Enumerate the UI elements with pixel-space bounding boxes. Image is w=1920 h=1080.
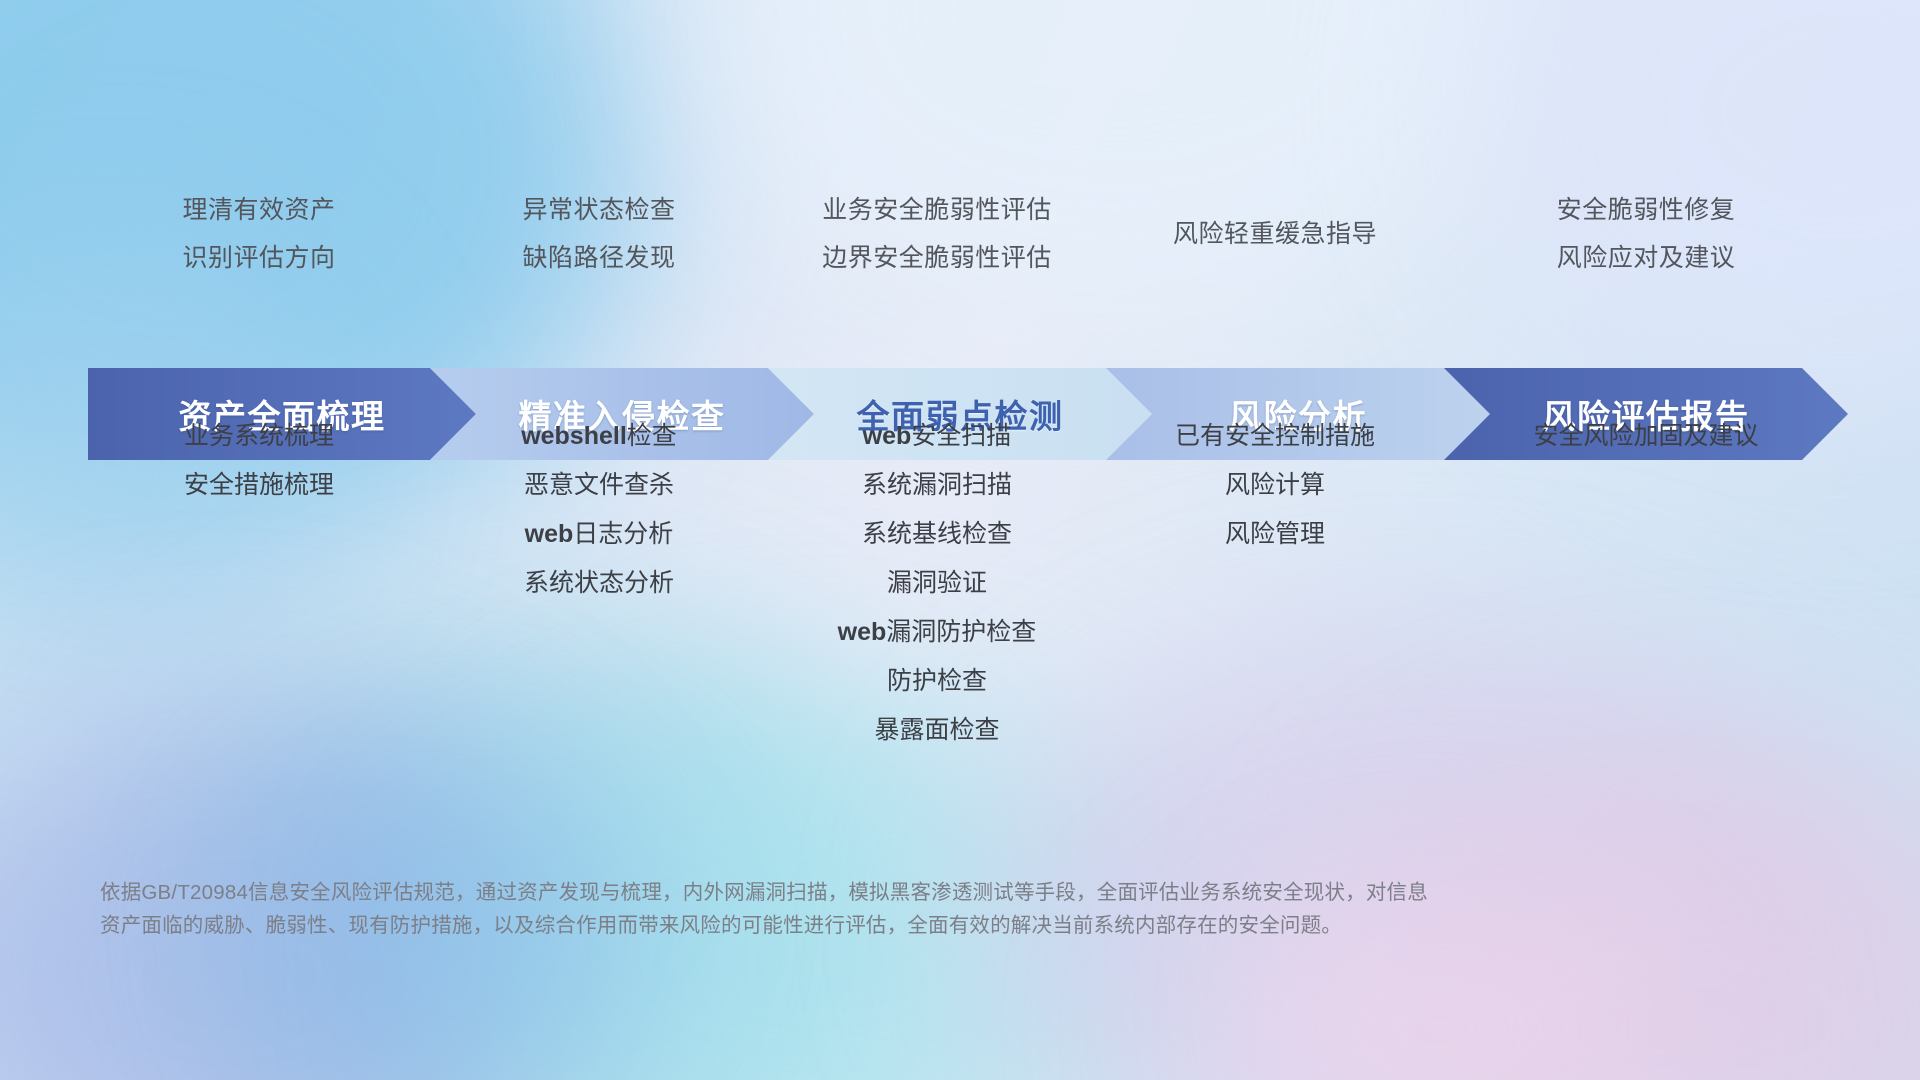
output-item: 暴露面检查 — [768, 706, 1106, 755]
output-item: 系统漏洞扫描 — [768, 461, 1106, 510]
input-item: 异常状态检查 — [430, 186, 768, 234]
stage-inputs-3: 业务安全脆弱性评估边界安全脆弱性评估 — [768, 186, 1106, 282]
stage-outputs-5: 安全风险加固及建议 — [1444, 412, 1848, 461]
stage-inputs-1: 理清有效资产识别评估方向 — [88, 186, 430, 282]
input-item: 理清有效资产 — [88, 186, 430, 234]
input-item: 缺陷路径发现 — [430, 234, 768, 282]
output-item: web日志分析 — [430, 510, 768, 559]
output-item: 安全措施梳理 — [88, 461, 430, 510]
output-item: webshell检查 — [430, 412, 768, 461]
stage-outputs-2: webshell检查恶意文件查杀web日志分析系统状态分析 — [430, 412, 768, 608]
stage-inputs-5: 安全脆弱性修复风险应对及建议 — [1444, 186, 1848, 282]
output-item: 系统基线检查 — [768, 510, 1106, 559]
output-item: 风险管理 — [1106, 510, 1444, 559]
stage-inputs-2: 异常状态检查缺陷路径发现 — [430, 186, 768, 282]
input-item: 安全脆弱性修复 — [1444, 186, 1848, 234]
output-item: 恶意文件查杀 — [430, 461, 768, 510]
output-item: web漏洞防护检查 — [768, 608, 1106, 657]
stage-outputs-1: 业务系统梳理安全措施梳理 — [88, 412, 430, 510]
slide-canvas: 理清有效资产识别评估方向异常状态检查缺陷路径发现业务安全脆弱性评估边界安全脆弱性… — [0, 0, 1920, 1080]
output-item: 业务系统梳理 — [88, 412, 430, 461]
input-item: 风险应对及建议 — [1444, 234, 1848, 282]
output-item: 风险计算 — [1106, 461, 1444, 510]
input-item: 业务安全脆弱性评估 — [768, 186, 1106, 234]
input-item: 风险轻重缓急指导 — [1106, 210, 1444, 258]
stage-inputs-4: 风险轻重缓急指导 — [1106, 210, 1444, 258]
input-item: 边界安全脆弱性评估 — [768, 234, 1106, 282]
output-item: 系统状态分析 — [430, 559, 768, 608]
stage-outputs-3: web安全扫描系统漏洞扫描系统基线检查漏洞验证web漏洞防护检查防护检查暴露面检… — [768, 412, 1106, 755]
footer-description: 依据GB/T20984信息安全风险评估规范，通过资产发现与梳理，内外网漏洞扫描，… — [100, 876, 1620, 942]
footer-line-2: 资产面临的威胁、脆弱性、现有防护措施，以及综合作用而带来风险的可能性进行评估，全… — [100, 909, 1620, 942]
input-item: 识别评估方向 — [88, 234, 430, 282]
output-item: 已有安全控制措施 — [1106, 412, 1444, 461]
output-item: 漏洞验证 — [768, 559, 1106, 608]
footer-line-1: 依据GB/T20984信息安全风险评估规范，通过资产发现与梳理，内外网漏洞扫描，… — [100, 876, 1620, 909]
output-item: 防护检查 — [768, 657, 1106, 706]
output-item: web安全扫描 — [768, 412, 1106, 461]
output-item: 安全风险加固及建议 — [1444, 412, 1848, 461]
stage-outputs-4: 已有安全控制措施风险计算风险管理 — [1106, 412, 1444, 559]
